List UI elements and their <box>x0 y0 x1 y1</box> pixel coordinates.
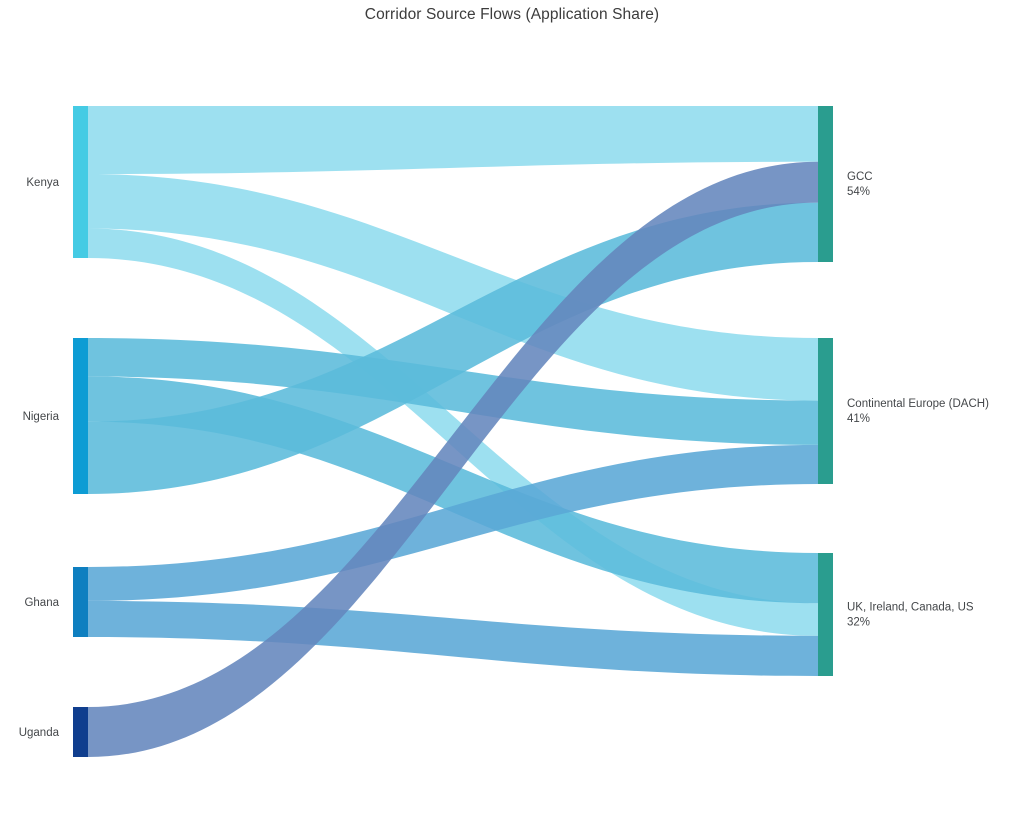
node-value-gcc: 54% <box>847 186 870 198</box>
node-label-nigeria: Nigeria <box>23 411 60 423</box>
node-label-ukica: UK, Ireland, Canada, US <box>847 602 974 614</box>
sankey-node-gcc[interactable] <box>818 106 833 262</box>
sankey-node-ukica[interactable] <box>818 553 833 676</box>
sankey-node-kenya[interactable] <box>73 106 88 258</box>
sankey-svg: KenyaNigeriaGhanaUgandaGCC54%Continental… <box>0 0 1024 814</box>
node-label-gcc: GCC <box>847 171 873 183</box>
sankey-node-dach[interactable] <box>818 338 833 484</box>
sankey-chart: Corridor Source Flows (Application Share… <box>0 0 1024 814</box>
node-label-kenya: Kenya <box>26 177 59 189</box>
node-label-ghana: Ghana <box>24 597 59 609</box>
sankey-node-nigeria[interactable] <box>73 338 88 494</box>
sankey-node-uganda[interactable] <box>73 707 88 757</box>
node-label-dach: Continental Europe (DACH) <box>847 398 989 410</box>
sankey-node-ghana[interactable] <box>73 567 88 637</box>
sankey-links <box>88 106 818 757</box>
node-label-uganda: Uganda <box>19 727 60 739</box>
node-value-ukica: 32% <box>847 617 870 629</box>
sankey-link-kenya-to-gcc[interactable] <box>88 106 818 174</box>
node-value-dach: 41% <box>847 413 870 425</box>
